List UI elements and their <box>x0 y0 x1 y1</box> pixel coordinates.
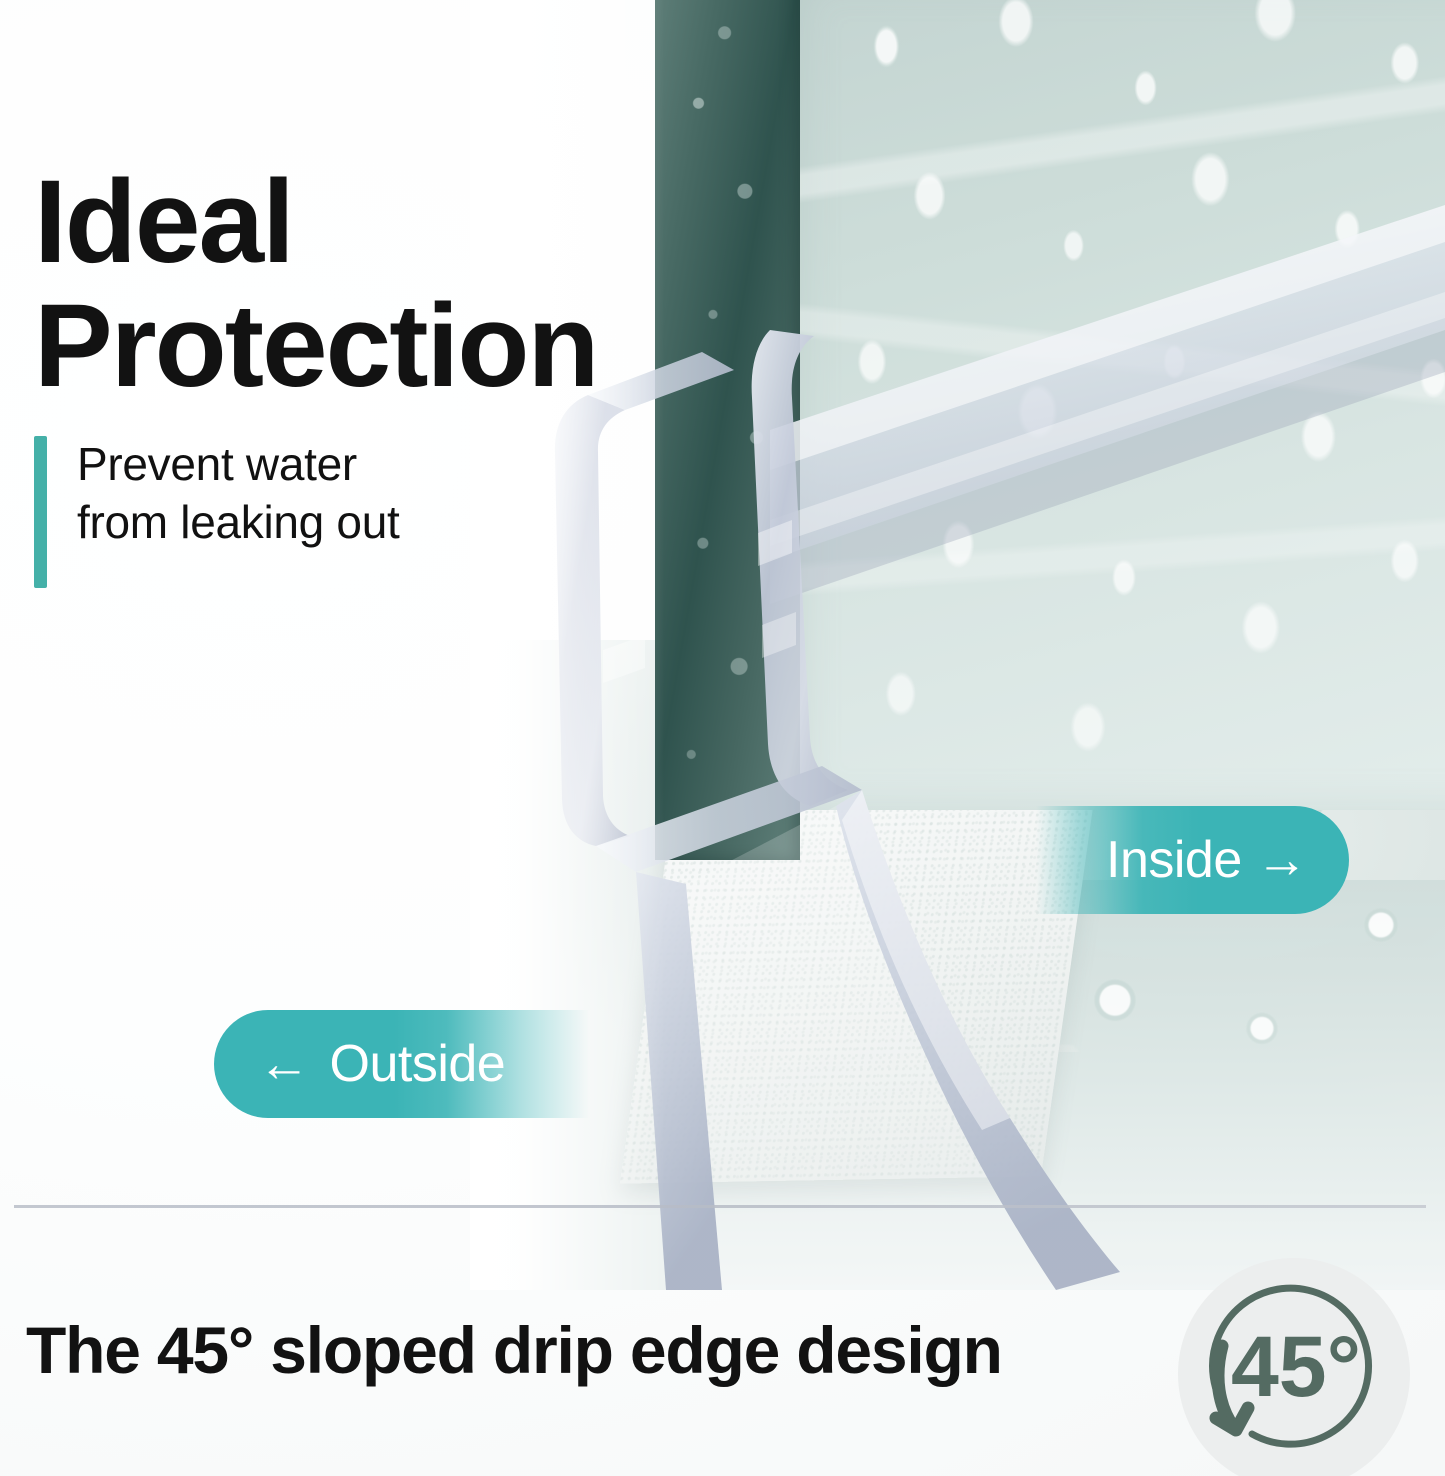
product-marketing-banner: Ideal Protection Prevent water from leak… <box>0 0 1445 1476</box>
subheading-line-2: from leaking out <box>77 494 399 552</box>
outside-direction-badge: ← Outside <box>214 1010 589 1118</box>
seal-bulb-tube <box>770 205 1445 604</box>
page-title: Ideal Protection <box>34 161 654 409</box>
seal-u-channel <box>555 330 862 872</box>
section-divider <box>14 1205 1426 1208</box>
headline-line-2: Protection <box>34 285 654 409</box>
headline-line-1: Ideal <box>34 156 293 288</box>
accent-bar <box>34 436 47 588</box>
outside-badge-label: Outside <box>330 1034 506 1094</box>
subheading-line-1: Prevent water <box>77 438 357 490</box>
inside-direction-badge: Inside → <box>1036 806 1349 914</box>
arrow-left-icon: ← <box>258 1034 310 1094</box>
inside-badge-label: Inside <box>1106 830 1242 890</box>
arrow-right-icon: → <box>1256 830 1308 890</box>
angle-badge-value: 45° <box>1231 1319 1361 1415</box>
subheading-block: Prevent water from leaking out <box>34 436 399 588</box>
angle-badge: 45° <box>1178 1258 1410 1476</box>
footer-caption: The 45° sloped drip edge design <box>26 1312 1002 1388</box>
subheading-text: Prevent water from leaking out <box>77 436 399 588</box>
rotation-arrow-icon: 45° <box>1178 1258 1410 1476</box>
